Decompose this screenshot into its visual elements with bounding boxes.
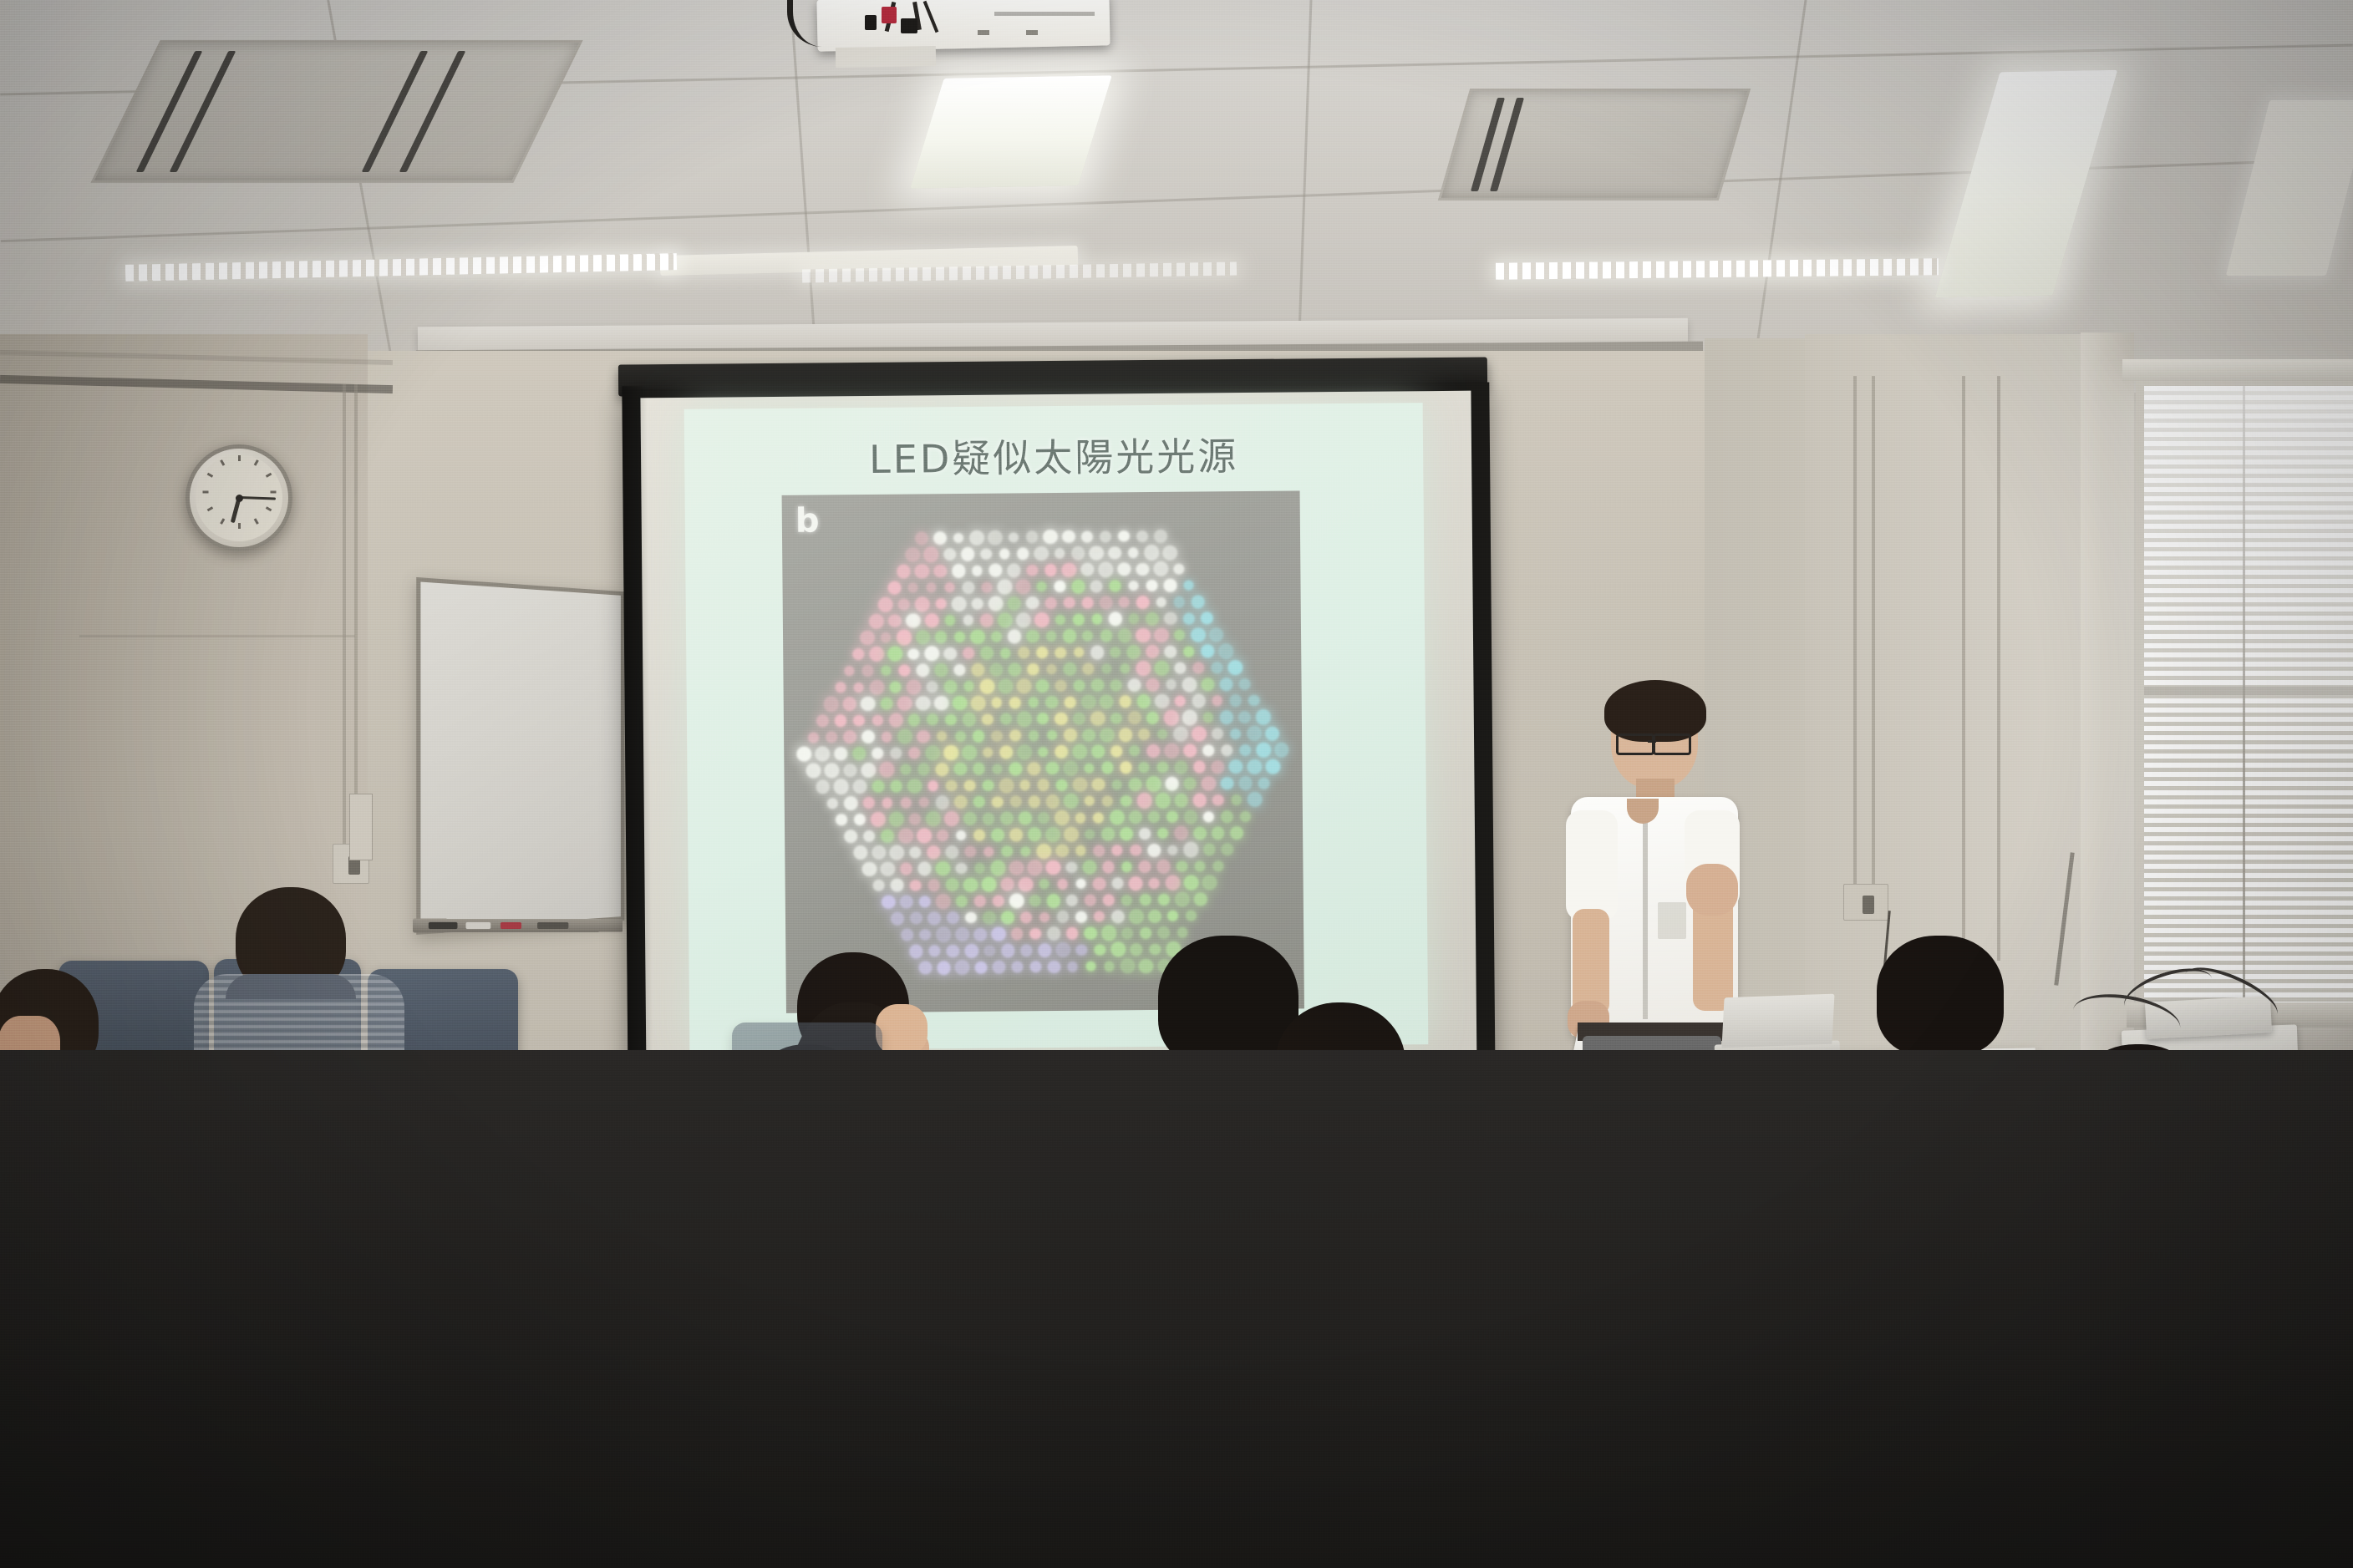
led-dot — [935, 599, 946, 610]
led-dot — [1017, 711, 1033, 727]
led-dot — [909, 846, 921, 858]
led-dot — [1082, 663, 1094, 675]
led-dot — [1201, 612, 1213, 625]
eraser[interactable] — [537, 922, 568, 929]
led-dot — [1184, 778, 1197, 790]
led-dot — [1036, 844, 1051, 859]
glasses-bridge — [1648, 740, 1656, 743]
led-dot — [971, 663, 984, 677]
led-dot — [1046, 631, 1057, 642]
led-dot — [1247, 759, 1262, 774]
led-dot — [1055, 548, 1065, 559]
led-dot — [1082, 728, 1095, 741]
led-dot — [906, 547, 920, 561]
led-dot — [1136, 628, 1151, 643]
led-dot — [1019, 812, 1031, 825]
led-dot — [926, 812, 940, 826]
led-dot — [1081, 530, 1093, 542]
led-dot — [869, 679, 885, 695]
led-dot — [1008, 597, 1020, 610]
led-dot — [990, 860, 1005, 875]
led-dot — [1192, 596, 1205, 609]
led-dot — [908, 747, 920, 759]
led-dot — [1153, 561, 1168, 576]
led-dot — [917, 730, 929, 743]
led-dot — [1055, 779, 1067, 790]
window — [2136, 378, 2353, 1026]
led-dot — [1007, 563, 1021, 577]
led-dot — [1045, 696, 1059, 709]
led-dot — [901, 929, 913, 941]
led-dot — [1055, 647, 1066, 658]
led-dot — [1183, 809, 1197, 824]
clock-tick — [238, 523, 241, 529]
led-dot — [1156, 596, 1166, 607]
led-dot — [1174, 760, 1187, 774]
led-dot — [909, 912, 922, 925]
led-dot — [953, 696, 968, 711]
led-dot — [935, 631, 948, 643]
wall-seam — [79, 635, 355, 637]
led-dot — [1043, 530, 1057, 544]
led-dot — [1139, 828, 1150, 839]
led-dot — [1136, 793, 1152, 809]
led-dot — [1075, 944, 1087, 956]
led-dot — [1071, 546, 1085, 560]
led-dot — [1055, 745, 1068, 759]
led-dot — [1075, 879, 1086, 890]
glasses-icon — [1616, 733, 1654, 755]
led-dot — [1108, 546, 1121, 560]
led-dot — [898, 664, 911, 677]
led-dot — [908, 714, 920, 726]
led-dot — [1048, 961, 1060, 973]
led-dot — [1192, 662, 1204, 673]
led-dot — [1063, 761, 1078, 776]
led-dot — [1121, 795, 1132, 807]
led-dot — [1009, 893, 1024, 908]
led-dot — [897, 729, 912, 744]
led-dot — [1202, 875, 1217, 891]
led-dot — [1212, 696, 1222, 707]
led-dot — [974, 961, 987, 973]
led-dot — [833, 779, 849, 795]
led-dot — [988, 596, 1004, 611]
led-dot — [999, 746, 1013, 759]
led-dot — [1090, 711, 1105, 726]
shirt-pocket — [1658, 902, 1686, 939]
led-dot — [1212, 827, 1224, 840]
led-dot — [926, 582, 937, 593]
led-dot — [1182, 677, 1197, 693]
wall-conduit — [1853, 376, 1857, 911]
led-dot — [1203, 844, 1216, 856]
led-dot — [1265, 726, 1279, 740]
led-dot — [1202, 712, 1213, 723]
led-dot — [1183, 612, 1195, 624]
led-dot — [1012, 962, 1024, 973]
led-dot — [1065, 696, 1076, 708]
led-dot — [1036, 581, 1047, 592]
led-dot — [1101, 663, 1112, 674]
led-dot — [889, 812, 904, 827]
led-dot — [1131, 845, 1141, 855]
led-dot — [900, 896, 913, 909]
led-dot — [1174, 826, 1188, 840]
led-dot — [1008, 630, 1022, 644]
led-dot — [1203, 811, 1214, 822]
led-dot — [1157, 828, 1168, 839]
led-dot — [1182, 710, 1198, 726]
led-dot — [991, 828, 1004, 841]
led-dot — [1183, 646, 1194, 657]
led-dot — [1183, 580, 1194, 591]
led-dot — [1100, 728, 1114, 742]
led-dot — [1102, 860, 1115, 873]
led-dot — [1112, 845, 1123, 855]
led-dot — [835, 683, 846, 693]
led-dot — [1080, 563, 1094, 576]
led-dot — [872, 715, 882, 726]
led-dot — [1072, 744, 1087, 759]
led-dot — [935, 664, 948, 677]
led-dot — [946, 878, 959, 891]
led-dot — [998, 678, 1013, 693]
led-dot — [852, 648, 864, 660]
led-dot — [1018, 647, 1029, 659]
led-dot — [1073, 778, 1087, 792]
led-dot — [1218, 643, 1234, 659]
led-dot — [1149, 878, 1160, 889]
clock-center — [236, 495, 243, 502]
led-dot — [1157, 762, 1168, 773]
led-dot — [825, 763, 840, 778]
led-dot — [1108, 612, 1122, 627]
led-dot — [1146, 712, 1159, 724]
led-dot — [1081, 596, 1094, 609]
led-dot — [843, 730, 856, 743]
led-dot — [998, 580, 1012, 594]
led-dot — [1229, 695, 1241, 707]
led-dot — [897, 696, 912, 711]
projector-indicator — [978, 30, 989, 35]
led-dot — [1240, 811, 1251, 822]
led-dot — [998, 612, 1013, 627]
led-dot — [1129, 810, 1142, 824]
led-dot — [1092, 778, 1105, 791]
led-dot — [974, 863, 985, 874]
led-dot — [1120, 762, 1132, 774]
led-dot — [882, 732, 892, 743]
led-dot — [963, 812, 978, 826]
led-dot — [1256, 743, 1271, 758]
led-dot — [1129, 876, 1143, 891]
led-dot — [946, 780, 957, 791]
led-dot — [1136, 661, 1151, 676]
led-dot — [955, 927, 969, 941]
led-dot — [972, 566, 983, 576]
led-dot — [1030, 928, 1041, 939]
led-dot — [826, 798, 837, 809]
led-dot — [1093, 877, 1105, 890]
led-dot — [1036, 647, 1048, 659]
led-dot — [1130, 746, 1141, 757]
led-dot — [1128, 712, 1141, 725]
led-dot — [973, 928, 987, 941]
wall-conduit — [354, 384, 358, 852]
led-dot — [970, 629, 985, 644]
led-dot — [1000, 812, 1014, 825]
led-dot — [1112, 878, 1124, 890]
ceiling-vent-icon — [90, 40, 582, 183]
projector-vent-line — [994, 12, 1095, 16]
led-dot — [1202, 745, 1214, 757]
led-dot — [980, 613, 994, 627]
led-dot — [1121, 895, 1132, 906]
led-dot — [1192, 694, 1205, 708]
led-dot — [1028, 664, 1039, 675]
led-dot — [1201, 645, 1214, 658]
led-dot — [954, 795, 968, 809]
led-dot — [1202, 776, 1217, 791]
led-dot — [908, 648, 919, 659]
led-dot — [1183, 875, 1198, 891]
led-dot — [888, 615, 901, 627]
led-dot — [916, 663, 930, 677]
led-dot — [1183, 842, 1199, 858]
led-dot — [963, 615, 974, 626]
led-dot — [943, 548, 956, 561]
led-dot — [945, 845, 958, 859]
led-dot — [956, 830, 967, 840]
student-head — [1877, 936, 2004, 1056]
led-dot — [1192, 793, 1207, 807]
led-dot — [881, 666, 891, 676]
led-dot — [898, 599, 910, 611]
led-dot — [1093, 845, 1105, 857]
led-dot — [981, 581, 992, 592]
led-dot — [971, 597, 983, 610]
led-dot — [1174, 794, 1188, 808]
led-dot — [1038, 812, 1049, 824]
led-dot — [1081, 694, 1096, 709]
led-dot — [1176, 860, 1187, 872]
marker[interactable] — [501, 922, 521, 929]
led-dot — [1063, 629, 1077, 643]
led-dot — [952, 596, 967, 611]
led-dot — [1110, 679, 1121, 690]
led-dot — [924, 647, 939, 662]
led-dot — [872, 748, 883, 759]
led-dot — [1138, 728, 1150, 740]
led-dot — [1085, 796, 1095, 806]
led-dot — [1174, 662, 1186, 674]
led-dot — [1020, 911, 1033, 924]
led-dot — [1128, 547, 1139, 558]
led-dot — [862, 665, 874, 677]
led-dot — [1118, 629, 1131, 642]
ceiling-light — [910, 75, 1112, 188]
marker[interactable] — [466, 922, 491, 929]
led-dot — [861, 762, 877, 778]
window-header — [2122, 359, 2353, 381]
led-dot — [1155, 793, 1171, 809]
led-dot — [1044, 564, 1057, 576]
led-dot — [1156, 860, 1170, 873]
led-dot — [871, 812, 886, 827]
led-dot — [1239, 744, 1252, 757]
led-dot — [1258, 777, 1269, 789]
led-dot — [1248, 695, 1260, 707]
led-dot — [1146, 612, 1159, 626]
led-dot — [796, 746, 812, 762]
led-dot — [1220, 777, 1233, 790]
led-dot — [1129, 778, 1142, 791]
led-dot — [1039, 912, 1050, 923]
led-dot — [1247, 726, 1262, 741]
led-dot — [1047, 730, 1057, 740]
led-dot — [806, 763, 821, 778]
led-dot — [983, 812, 995, 825]
led-dot — [1167, 845, 1177, 855]
led-dot — [936, 927, 951, 942]
ceiling-vent-icon — [1438, 89, 1751, 200]
led-dot — [1075, 845, 1086, 856]
led-dot — [1265, 759, 1281, 774]
led-dot — [1045, 597, 1057, 609]
led-dot — [1029, 730, 1039, 741]
led-dot — [1238, 678, 1250, 690]
led-dot — [945, 615, 956, 626]
slide-title: LED疑似太陽光光源 — [684, 424, 1424, 486]
led-dot — [897, 565, 911, 579]
led-dot — [1193, 826, 1207, 840]
led-dot — [983, 846, 994, 857]
laptop-screen[interactable] — [1721, 994, 1834, 1048]
led-dot — [917, 862, 931, 875]
led-dot — [1046, 762, 1059, 774]
led-dot — [899, 829, 913, 843]
led-dot — [1213, 860, 1224, 871]
led-dot — [1192, 726, 1207, 742]
led-dot — [900, 797, 911, 808]
led-dot — [956, 862, 968, 874]
presenter-sleeve-left — [1566, 810, 1618, 921]
led-dot — [980, 647, 994, 660]
led-dot — [1001, 911, 1014, 925]
led-dot — [853, 747, 866, 760]
led-dot — [1165, 777, 1179, 791]
led-dot — [1019, 780, 1029, 790]
led-dot — [835, 747, 848, 760]
led-dot — [852, 779, 866, 794]
clock-tick — [238, 455, 241, 461]
led-dot — [1148, 811, 1160, 823]
wall-outlet[interactable] — [1843, 884, 1888, 921]
led-dot — [1017, 744, 1032, 759]
led-dot — [1101, 762, 1114, 774]
led-dot — [1064, 728, 1077, 742]
led-dot — [1111, 910, 1126, 924]
led-dot — [925, 745, 941, 761]
led-dot — [965, 846, 976, 857]
led-dot — [1095, 944, 1105, 955]
led-dot — [963, 713, 976, 726]
led-dot — [1029, 961, 1042, 973]
whiteboard[interactable] — [416, 577, 624, 935]
led-dot — [1055, 679, 1067, 692]
led-dot — [1183, 743, 1197, 757]
led-dot — [1073, 713, 1085, 725]
led-dot — [954, 763, 968, 776]
led-dot — [937, 731, 948, 742]
led-dot — [1164, 579, 1176, 591]
led-dot — [1100, 630, 1112, 642]
led-dot — [1037, 713, 1049, 725]
led-dot — [1110, 746, 1122, 758]
led-dot — [1140, 894, 1151, 906]
led-dot — [1194, 893, 1207, 906]
led-dot — [1100, 530, 1111, 542]
led-dot — [974, 896, 986, 907]
led-dot — [1027, 762, 1041, 776]
led-dot — [1164, 710, 1180, 726]
led-dot — [1146, 776, 1161, 791]
led-dot — [844, 830, 858, 844]
led-dot — [1034, 546, 1048, 561]
led-dot — [881, 830, 894, 843]
led-dot — [1100, 695, 1114, 709]
led-dot — [1227, 660, 1243, 675]
led-dot — [843, 698, 856, 711]
led-dot — [869, 613, 884, 628]
led-dot — [915, 564, 930, 579]
led-dot — [955, 731, 966, 742]
led-dot — [1154, 530, 1167, 543]
led-dot — [861, 730, 876, 744]
led-dot — [1020, 944, 1033, 957]
led-dot — [983, 779, 994, 791]
led-dot — [1008, 662, 1021, 676]
led-dot — [1093, 812, 1104, 823]
led-dot — [891, 911, 905, 926]
led-dot — [1029, 895, 1041, 906]
led-dot — [1073, 613, 1085, 625]
led-dot — [1098, 562, 1114, 578]
led-dot — [1146, 645, 1159, 658]
led-dot — [1082, 631, 1093, 642]
wall-conduit — [1997, 376, 2000, 961]
led-dot — [1071, 579, 1085, 593]
led-dot — [1212, 794, 1224, 806]
led-dot — [1231, 794, 1242, 805]
led-dot — [1146, 678, 1160, 692]
led-dot — [956, 896, 968, 907]
led-dot — [1011, 928, 1024, 941]
led-dot — [1221, 810, 1233, 823]
led-dot — [1211, 760, 1224, 774]
led-dot — [1136, 530, 1148, 542]
led-dot — [993, 895, 1004, 906]
led-dot — [961, 547, 975, 561]
led-dot — [1255, 709, 1270, 724]
led-dot — [1110, 647, 1121, 657]
led-dot — [919, 929, 931, 941]
led-dot — [1057, 879, 1068, 890]
led-dot — [963, 878, 978, 892]
led-dot — [1039, 879, 1049, 889]
led-dot — [1166, 811, 1178, 823]
